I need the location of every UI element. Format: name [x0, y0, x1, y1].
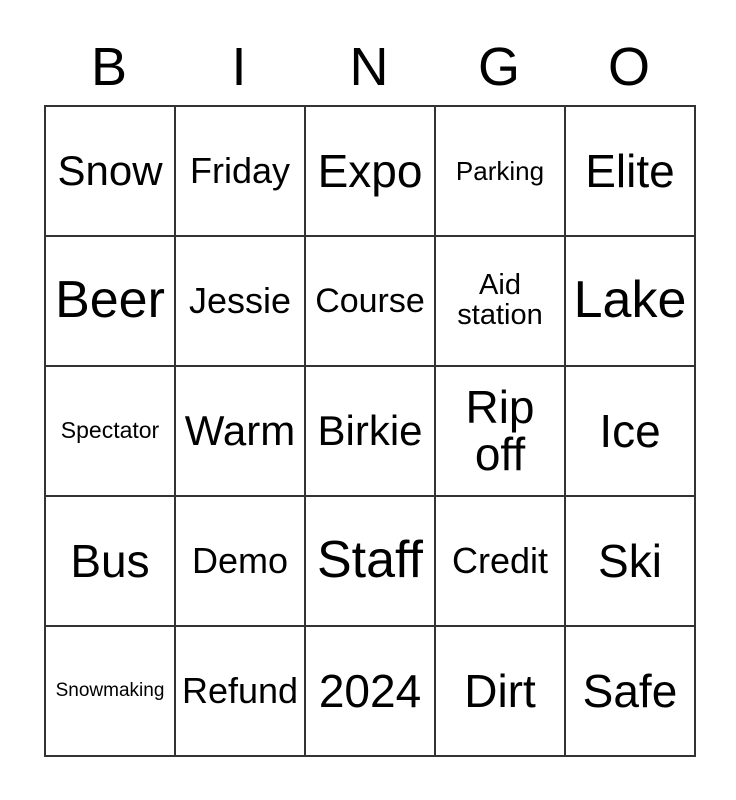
bingo-cell-label: Refund	[178, 673, 302, 710]
header-letter-i: I	[174, 28, 304, 105]
bingo-cell[interactable]: Snow	[46, 107, 176, 237]
bingo-cell[interactable]: Beer	[46, 237, 176, 367]
bingo-grid: Snow Friday Expo Parking Elite Beer Jess…	[44, 105, 696, 757]
bingo-cell[interactable]: Safe	[566, 627, 696, 757]
bingo-cell[interactable]: Dirt	[436, 627, 566, 757]
bingo-cell[interactable]: Jessie	[176, 237, 306, 367]
bingo-cell[interactable]: Credit	[436, 497, 566, 627]
bingo-cell-label: Credit	[438, 543, 562, 580]
bingo-cell[interactable]: Expo	[306, 107, 436, 237]
bingo-cell[interactable]: Elite	[566, 107, 696, 237]
bingo-cell[interactable]: Bus	[46, 497, 176, 627]
bingo-cell-label: Safe	[568, 668, 692, 715]
bingo-cell[interactable]: Ice	[566, 367, 696, 497]
bingo-cell-label: Lake	[568, 274, 692, 327]
header-letter-g: G	[434, 28, 564, 105]
bingo-cell-label: Snow	[48, 150, 172, 193]
bingo-cell[interactable]: Demo	[176, 497, 306, 627]
bingo-cell-label: Elite	[568, 148, 692, 195]
header-letter-b: B	[44, 28, 174, 105]
bingo-cell[interactable]: Birkie	[306, 367, 436, 497]
bingo-cell-label: Beer	[48, 274, 172, 327]
bingo-cell-label: Ice	[568, 408, 692, 455]
bingo-cell-label: Bus	[48, 538, 172, 585]
bingo-cell[interactable]: Rip off	[436, 367, 566, 497]
bingo-header: B I N G O	[44, 28, 694, 105]
bingo-cell-label: Birkie	[308, 410, 432, 453]
bingo-cell[interactable]: Warm	[176, 367, 306, 497]
bingo-card: B I N G O Snow Friday Expo Parking Elite…	[44, 28, 694, 757]
bingo-cell[interactable]: Spectator	[46, 367, 176, 497]
bingo-cell-label: 2024	[308, 668, 432, 715]
bingo-cell-label: Spectator	[48, 419, 172, 442]
bingo-cell[interactable]: Snowmaking	[46, 627, 176, 757]
bingo-cell-label: Expo	[308, 148, 432, 195]
bingo-cell-label: Parking	[438, 158, 562, 185]
bingo-cell-label: Dirt	[438, 668, 562, 715]
bingo-cell[interactable]: Parking	[436, 107, 566, 237]
header-letter-n: N	[304, 28, 434, 105]
bingo-cell[interactable]: Aid station	[436, 237, 566, 367]
bingo-cell-label: Snowmaking	[48, 681, 172, 700]
bingo-cell-label: Staff	[308, 534, 432, 587]
bingo-cell-label: Rip off	[438, 384, 562, 478]
bingo-cell[interactable]: Ski	[566, 497, 696, 627]
bingo-cell[interactable]: Refund	[176, 627, 306, 757]
bingo-cell-label: Jessie	[178, 283, 302, 320]
bingo-cell-label: Course	[308, 284, 432, 319]
bingo-cell[interactable]: Course	[306, 237, 436, 367]
bingo-cell[interactable]: Staff	[306, 497, 436, 627]
bingo-cell-label: Ski	[568, 538, 692, 585]
bingo-cell[interactable]: Lake	[566, 237, 696, 367]
bingo-cell-label: Demo	[178, 543, 302, 580]
bingo-cell-label: Friday	[178, 153, 302, 190]
bingo-cell[interactable]: Friday	[176, 107, 306, 237]
bingo-cell-label: Warm	[178, 410, 302, 453]
bingo-cell[interactable]: 2024	[306, 627, 436, 757]
header-letter-o: O	[564, 28, 694, 105]
bingo-cell-label: Aid station	[438, 271, 562, 330]
